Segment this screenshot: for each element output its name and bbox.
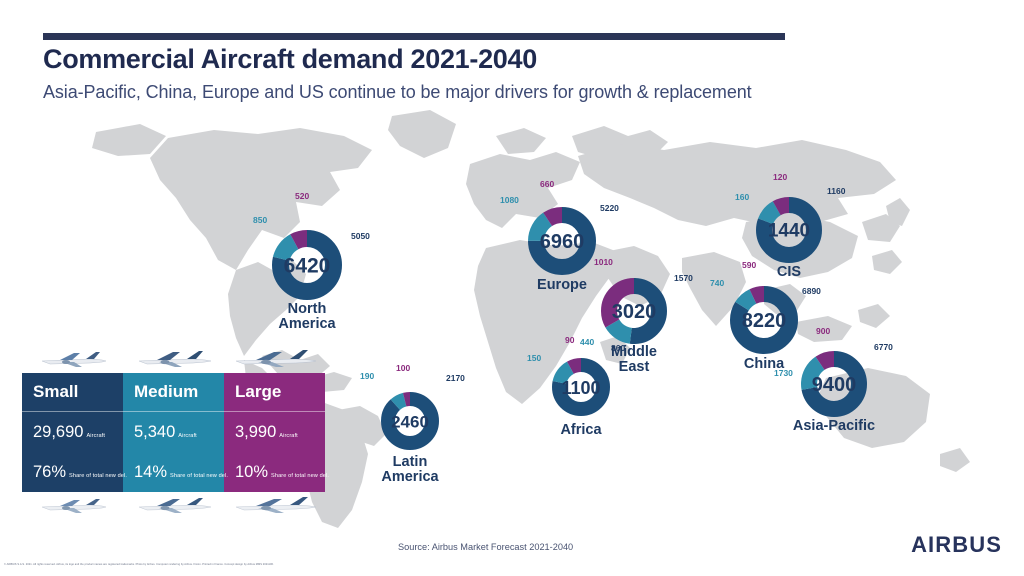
legend-share-large: 10%Share of total new del. xyxy=(224,452,325,492)
airbus-logo: AIRBUS xyxy=(911,532,1002,558)
size-category-legend: Small Medium Large 29,690Aircraft 5,340A… xyxy=(22,373,325,492)
donut-callout-small: 5220 xyxy=(600,203,619,213)
donut-callout-small: 1160 xyxy=(827,186,845,196)
donut-callout-small: 6890 xyxy=(802,286,821,296)
donut-region-label-line: East xyxy=(611,360,657,375)
legend-aircraft-row: 29,690Aircraft 5,340Aircraft 3,990Aircra… xyxy=(22,412,325,453)
donut-callout-large: 90 xyxy=(565,335,574,345)
aircraft-silhouette-small-top xyxy=(22,346,123,372)
airplane-icon xyxy=(133,495,215,515)
legend-share-small-unit: Share of total new del. xyxy=(69,473,127,479)
airplane-icon xyxy=(36,495,110,515)
donut-callout-medium: 740 xyxy=(710,278,724,288)
legend-aircraft-small: 29,690Aircraft xyxy=(22,412,123,453)
donut-callout-medium: 850 xyxy=(253,215,267,225)
donut-callout-large: 660 xyxy=(540,179,554,189)
legend-share-medium-value: 14% xyxy=(134,463,167,481)
donut-region-label: LatinAmerica xyxy=(381,455,438,486)
donut-callout-small: 860 xyxy=(611,343,625,353)
airplane-icon xyxy=(230,349,320,369)
donut-north-america: 64205050850520NorthAmerica xyxy=(269,227,345,303)
aircraft-silhouette-large-top xyxy=(224,346,325,372)
donut-region-label: Europe xyxy=(537,278,587,293)
legend-aircraft-medium-value: 5,340 xyxy=(134,423,175,441)
legend-aircraft-large: 3,990Aircraft xyxy=(224,412,325,453)
legend-header-small: Small xyxy=(22,373,123,412)
donut-total-value: 6420 xyxy=(284,255,331,278)
legend-aircraft-small-unit: Aircraft xyxy=(86,433,105,439)
donut-latin-america: 24602170190100LatinAmerica xyxy=(378,389,442,453)
donut-total-value: 9400 xyxy=(812,374,857,396)
header-rule xyxy=(43,33,785,40)
donut-region-label-line: Europe xyxy=(537,278,587,293)
legend-share-large-unit: Share of total new del. xyxy=(271,473,329,479)
donut-region-label: NorthAmerica xyxy=(278,302,335,333)
source-note: Source: Airbus Market Forecast 2021-2040 xyxy=(398,542,573,552)
legend-aircraft-large-unit: Aircraft xyxy=(279,433,298,439)
donut-region-label-line: America xyxy=(278,317,335,332)
donut-callout-large: 1010 xyxy=(594,257,613,267)
aircraft-silhouette-small-bottom xyxy=(22,492,123,518)
donut-region-label-line: North xyxy=(278,302,335,317)
page-title: Commercial Aircraft demand 2021-2040 xyxy=(43,44,537,75)
donut-total-value: 6960 xyxy=(540,231,585,253)
donut-callout-medium: 190 xyxy=(360,371,374,381)
legend-share-large-value: 10% xyxy=(235,463,268,481)
donut-total-value: 1100 xyxy=(561,378,600,398)
donut-region-label-line: Africa xyxy=(560,423,601,438)
aircraft-silhouette-row-bottom xyxy=(22,492,325,518)
donut-callout-large: 100 xyxy=(396,363,410,373)
donut-callout-small: 1570 xyxy=(674,273,693,283)
donut-callout-medium: 440 xyxy=(580,337,594,347)
donut-europe: 696052201080660Europe xyxy=(525,204,599,278)
donut-callout-small: 2170 xyxy=(446,373,465,383)
legend-share-small: 76%Share of total new del. xyxy=(22,452,123,492)
donut-region-label-line: CIS xyxy=(777,265,801,280)
legend-share-medium: 14%Share of total new del. xyxy=(123,452,224,492)
donut-callout-medium: 1080 xyxy=(500,195,519,205)
donut-china: 82206890740590China xyxy=(727,283,801,357)
donut-callout-small: 6770 xyxy=(874,342,893,352)
legend-header-row: Small Medium Large xyxy=(22,373,325,412)
legend-aircraft-medium: 5,340Aircraft xyxy=(123,412,224,453)
legend-aircraft-medium-unit: Aircraft xyxy=(178,433,197,439)
aircraft-silhouette-row-top xyxy=(22,346,325,372)
donut-cis: 14401160160120CIS xyxy=(753,194,825,266)
legend-share-small-value: 76% xyxy=(33,463,66,481)
donut-total-value: 8220 xyxy=(742,310,787,332)
airplane-icon xyxy=(36,349,110,369)
legend-aircraft-small-value: 29,690 xyxy=(33,423,83,441)
donut-callout-large: 520 xyxy=(295,191,309,201)
donut-callout-large: 120 xyxy=(773,172,787,182)
aircraft-silhouette-medium-bottom xyxy=(123,492,224,518)
donut-total-value: 3020 xyxy=(612,301,657,323)
legend-header-large: Large xyxy=(224,373,325,412)
donut-region-label: Asia-Pacific xyxy=(793,419,875,434)
donut-region-label-line: America xyxy=(381,470,438,485)
legend-table: Small Medium Large 29,690Aircraft 5,340A… xyxy=(22,373,325,492)
donut-total-value: 1440 xyxy=(768,221,810,242)
donut-region-label-line: Asia-Pacific xyxy=(793,419,875,434)
legend-aircraft-large-value: 3,990 xyxy=(235,423,276,441)
legend-share-medium-unit: Share of total new del. xyxy=(170,473,228,479)
aircraft-silhouette-medium-top xyxy=(123,346,224,372)
donut-region-label: Africa xyxy=(560,423,601,438)
aircraft-silhouette-large-bottom xyxy=(224,492,325,518)
legend-header-medium: Medium xyxy=(123,373,224,412)
donut-callout-small: 5050 xyxy=(351,231,370,241)
donut-callout-large: 900 xyxy=(816,326,830,336)
legend-share-row: 76%Share of total new del. 14%Share of t… xyxy=(22,452,325,492)
slide-canvas: Commercial Aircraft demand 2021-2040 Asi… xyxy=(0,0,1024,576)
donut-callout-medium: 1730 xyxy=(774,368,793,378)
donut-asia-pacific: 940067701730900Asia-Pacific xyxy=(798,348,870,420)
donut-callout-medium: 160 xyxy=(735,192,749,202)
page-subtitle: Asia-Pacific, China, Europe and US conti… xyxy=(43,82,752,103)
donut-region-label: CIS xyxy=(777,265,801,280)
donut-middle-east: 302015704401010MiddleEast xyxy=(598,275,670,347)
airplane-icon xyxy=(230,495,320,515)
airplane-icon xyxy=(133,349,215,369)
donut-region-label-line: Latin xyxy=(381,455,438,470)
copyright-fineprint: © AIRBUS S.A.S. 2021. All rights reserve… xyxy=(4,563,349,567)
donut-africa: 110086015090Africa xyxy=(549,355,613,419)
donut-callout-large: 590 xyxy=(742,260,756,270)
donut-callout-medium: 150 xyxy=(527,353,541,363)
donut-total-value: 2460 xyxy=(391,413,429,432)
